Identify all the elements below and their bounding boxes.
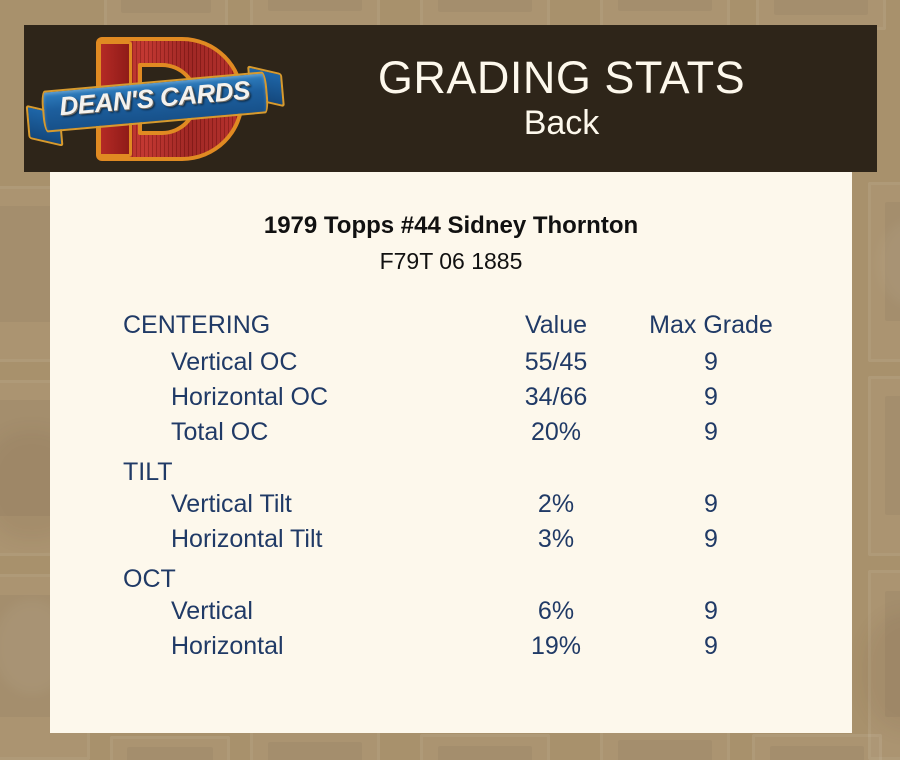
table-row: Horizontal19%9 [121,629,781,664]
stat-value: 6% [471,594,641,629]
stat-max-grade: 9 [641,629,781,664]
section-header-row: OCT [121,557,781,594]
stat-label: Horizontal Tilt [121,522,471,557]
column-header-value: Value [471,305,641,345]
stat-label: Vertical [121,594,471,629]
stat-max-grade: 9 [641,380,781,415]
stat-label: Vertical OC [121,345,471,380]
stat-value: 55/45 [471,345,641,380]
stat-max-grade: 9 [641,594,781,629]
grading-stats-table: CENTERING Value Max Grade Vertical OC55/… [121,305,781,664]
section-header-row: TILT [121,450,781,487]
header-bar: DEAN'S CARDS GRADING STATS Back [24,25,877,172]
stat-label: Vertical Tilt [121,487,471,522]
stat-value: 20% [471,415,641,450]
background-card-ghost [752,734,882,760]
section-header-label: TILT [121,450,781,487]
background-card-ghost [868,376,900,556]
card-identifier: F79T 06 1885 [50,248,852,275]
section-header-label: OCT [121,557,781,594]
stat-value: 2% [471,487,641,522]
stat-max-grade: 9 [641,487,781,522]
background-card-ghost [110,736,230,760]
background-card-ghost [420,734,550,760]
card-title: 1979 Topps #44 Sidney Thornton [50,212,852,240]
stat-value: 34/66 [471,380,641,415]
table-row: Vertical6%9 [121,594,781,629]
stat-value: 3% [471,522,641,557]
page-title: GRADING STATS [286,54,837,103]
page-subtitle: Back [286,104,837,143]
stat-max-grade: 9 [641,522,781,557]
stats-table-body: Vertical OC55/459Horizontal OC34/669Tota… [121,345,781,664]
deans-cards-logo[interactable]: DEAN'S CARDS [24,25,286,172]
content-panel: 1979 Topps #44 Sidney Thornton F79T 06 1… [50,172,852,733]
stat-value: 19% [471,629,641,664]
stat-max-grade: 9 [641,415,781,450]
table-row: Total OC20%9 [121,415,781,450]
column-header-max-grade: Max Grade [641,305,781,345]
stat-label: Horizontal OC [121,380,471,415]
table-row: Vertical Tilt2%9 [121,487,781,522]
column-header-centering: CENTERING [121,305,471,345]
table-row: Horizontal Tilt3%9 [121,522,781,557]
stat-max-grade: 9 [641,345,781,380]
stats-table-header-row: CENTERING Value Max Grade [121,305,781,345]
table-row: Horizontal OC34/669 [121,380,781,415]
table-row: Vertical OC55/459 [121,345,781,380]
background-card-ghost [250,730,380,760]
stat-label: Total OC [121,415,471,450]
stat-label: Horizontal [121,629,471,664]
stats-table-head: CENTERING Value Max Grade [121,305,781,345]
header-titles: GRADING STATS Back [286,54,877,144]
